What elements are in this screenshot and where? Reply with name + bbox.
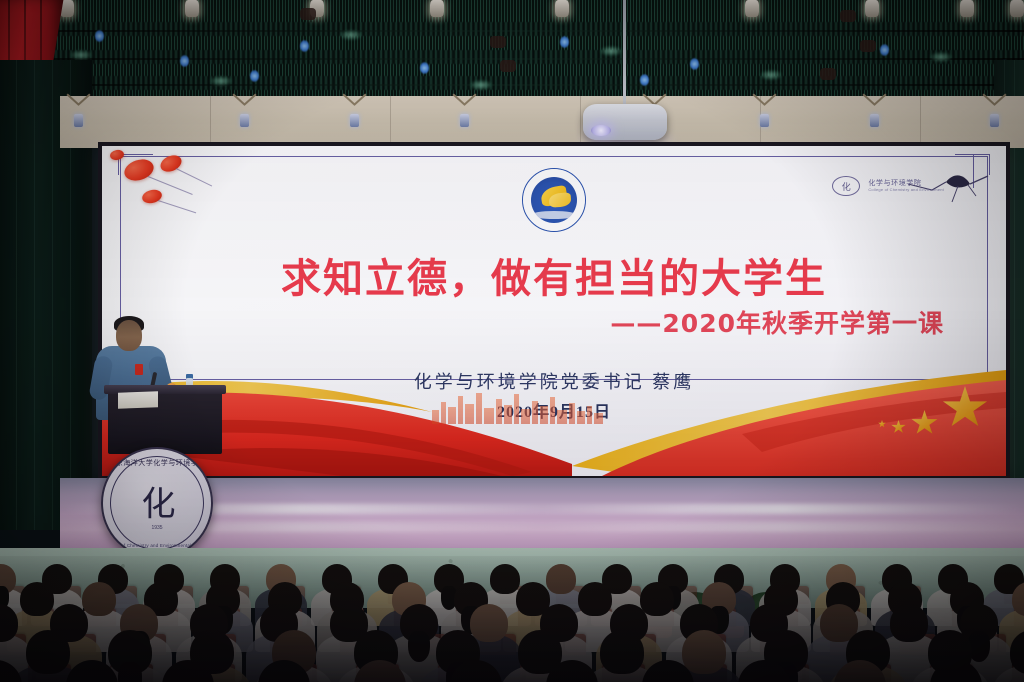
stage-spotlight [1010,0,1024,17]
plaque-monogram-icon: 化 [142,476,173,525]
college-mark-text: 化学与环境学院 College of Chemistry and Environ… [868,180,944,192]
green-stage-glow [340,30,362,40]
audience-member-head [490,564,520,594]
wall-light-clip [990,114,999,127]
hanging-fixture [490,36,506,48]
audience-member-hair [118,662,143,682]
auditorium-photo: 化 化学与环境学院 College of Chemistry and Envir… [0,0,1024,682]
speaker-head [116,320,142,351]
speaker-name-badge [135,364,143,375]
clip-arm [232,94,245,106]
plaque-year: 1935 [103,525,211,531]
green-stage-glow [600,46,622,56]
audience-member-hair [408,631,429,661]
red-ribbon-artwork [102,356,1006,476]
hanging-fixture [820,68,836,80]
wall-light-clip [870,114,879,127]
podium-college-plaque: 广东海洋大学化学与环境学院 化 1935 Faculty of Chemistr… [101,447,213,559]
plaque-college-name-cn: 广东海洋大学化学与环境学院 [103,458,211,468]
slide-subtitle: ——2020年秋季开学第一课 [610,304,944,340]
blue-stage-light [420,62,429,74]
college-name-en: College of Chemistry and Environment [868,188,944,192]
led-screen-frame: 化 化学与环境学院 College of Chemistry and Envir… [98,142,1010,480]
blue-stage-light [300,40,309,52]
led-screen: 化 化学与环境学院 College of Chemistry and Envir… [102,146,1006,476]
hanging-fixture [840,10,856,22]
stage-spotlight [745,0,759,17]
wall-light-clip [460,114,469,127]
blue-stage-light [560,36,569,48]
blue-stage-light [690,58,699,70]
blue-stage-light [95,30,104,42]
valance-scallop [0,76,1024,90]
wall-light-clip [240,114,249,127]
audience-member-head [20,582,54,616]
audience-member-head [26,630,70,674]
emblem-ring [523,169,585,231]
green-stage-glow [760,70,782,80]
clip-arm [862,94,875,106]
hanging-fixture [500,60,516,72]
valance-seam [0,84,1024,86]
audience-member-head [82,582,116,616]
valance-seam [0,30,1024,32]
green-pleated-valance [0,0,1024,100]
wall-light-clip [350,114,359,127]
stage-spotlight [865,0,879,17]
audience-member-head [600,630,644,674]
blue-stage-light [180,55,189,67]
seated-audience [0,556,1024,682]
stage-back-wall [60,96,1024,148]
audience-member-head [470,604,508,642]
clip-arm [342,94,355,106]
green-stage-glow [470,80,492,90]
wall-light-clip [760,114,769,127]
audience-member-head [890,604,928,642]
podium-papers [118,391,158,408]
clip-arm [452,94,465,106]
audience-member-head [682,630,726,674]
projector-mount [623,0,626,108]
clip-arm [66,94,79,106]
slide-title: 求知立德，做有担当的大学生 [102,246,1006,304]
ceiling-projector [583,104,667,140]
college-badge-icon: 化 [832,176,860,196]
hanging-fixture [860,40,876,52]
green-stage-glow [210,76,232,86]
audience-member-head [640,582,674,616]
audience-member-head [578,582,612,616]
city-skyline-silhouette [432,390,692,424]
blue-stage-light [640,74,649,86]
wall-light-clip [74,114,83,127]
stage-spotlight [555,0,569,17]
university-emblem [522,168,586,232]
clip-arm [982,94,995,106]
valance-scallop [0,22,1024,36]
blue-stage-light [880,44,889,56]
audience-member-head [546,564,576,594]
hanging-fixture [300,8,316,20]
projector-lens [591,125,611,136]
stage-spotlight [185,0,199,17]
stage-spotlight [960,0,974,17]
green-stage-glow [930,52,952,62]
blue-stage-light [250,70,259,82]
stage-spotlight [430,0,444,17]
green-stage-glow [70,50,92,60]
college-mark: 化 化学与环境学院 College of Chemistry and Envir… [832,176,944,196]
